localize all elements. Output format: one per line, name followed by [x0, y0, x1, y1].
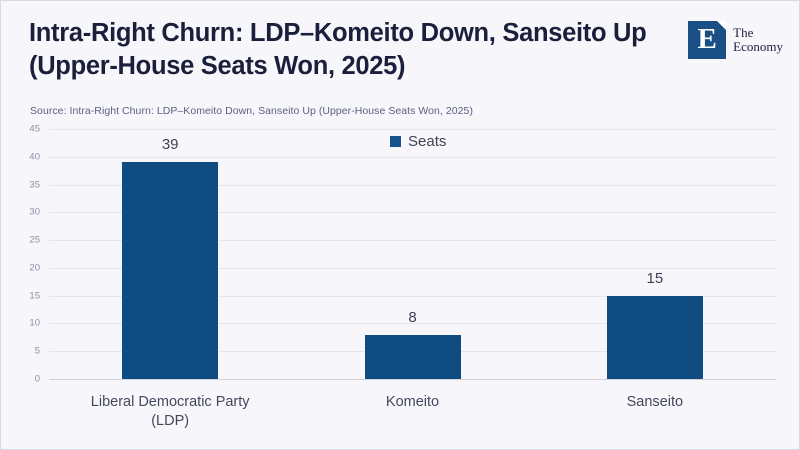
brand-logo: E The Economy [688, 21, 783, 59]
y-axis-tick-label: 10 [29, 318, 40, 329]
logo-letter: E [698, 25, 717, 54]
logo-corner-fold-icon [717, 21, 726, 30]
bar-value-label: 8 [408, 309, 416, 326]
bar-1[interactable] [365, 335, 461, 379]
chart-page: Intra-Right Churn: LDP–Komeito Down, San… [0, 0, 800, 450]
economy-logo-icon: E [688, 21, 726, 59]
x-axis-category-label: Liberal Democratic Party (LDP) [91, 393, 250, 431]
y-axis-tick-label: 25 [29, 235, 40, 246]
plot-area: 05101520253035404539Liberal Democratic P… [49, 129, 776, 379]
y-axis-tick-label: 40 [29, 151, 40, 162]
bar-0[interactable] [122, 162, 218, 379]
brand-name-line1: The [733, 26, 783, 40]
bar-2[interactable] [607, 296, 703, 379]
bar-value-label: 39 [162, 136, 179, 153]
source-note: Source: Intra-Right Churn: LDP–Komeito D… [30, 105, 473, 117]
y-axis-tick-label: 30 [29, 207, 40, 218]
brand-name: The Economy [733, 26, 783, 54]
chart-header: Intra-Right Churn: LDP–Komeito Down, San… [1, 1, 800, 101]
x-axis-category-label: Komeito [386, 393, 439, 412]
brand-name-line2: Economy [733, 40, 783, 54]
y-axis-tick-label: 0 [35, 374, 40, 385]
gridline: 40 [49, 157, 776, 158]
gridline: 0 [49, 379, 776, 380]
x-axis-category-label: Sanseito [627, 393, 683, 412]
bar-value-label: 15 [646, 270, 663, 287]
y-axis-tick-label: 35 [29, 179, 40, 190]
y-axis-tick-label: 45 [29, 124, 40, 135]
gridline: 45 [49, 129, 776, 130]
y-axis-tick-label: 20 [29, 262, 40, 273]
page-title: Intra-Right Churn: LDP–Komeito Down, San… [29, 17, 669, 83]
y-axis-tick-label: 15 [29, 290, 40, 301]
y-axis-tick-label: 5 [35, 346, 40, 357]
bar-chart: Seats 05101520253035404539Liberal Democr… [1, 119, 800, 450]
